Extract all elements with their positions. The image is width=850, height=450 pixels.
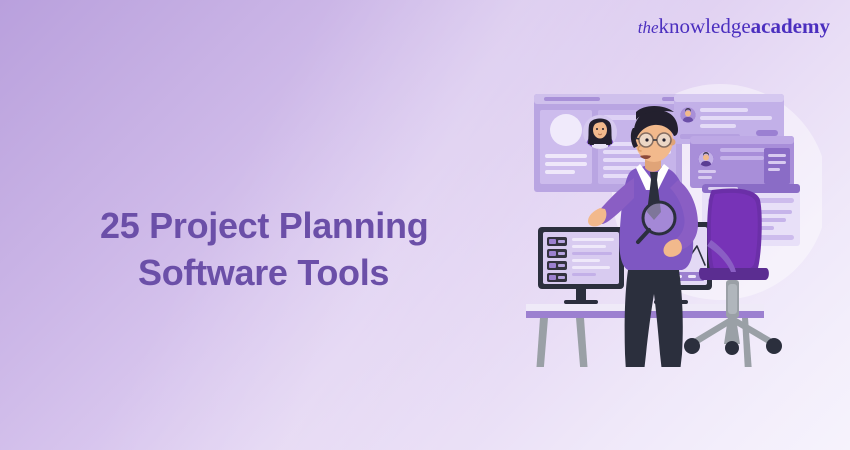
brand-logo[interactable]: theknowledgeacademy (638, 14, 830, 39)
logo-the: the (638, 18, 659, 37)
hero-illustration (512, 72, 822, 367)
monitor-left (538, 227, 624, 304)
logo-academy: academy (751, 14, 830, 38)
chat-panel-2 (690, 136, 794, 188)
title-line-1: 25 Project Planning (100, 202, 428, 249)
page-title: 25 Project Planning Software Tools (100, 202, 428, 296)
promo-banner: theknowledgeacademy 25 Project Planning … (0, 0, 850, 450)
logo-knowledge: knowledge (659, 14, 751, 38)
title-line-2: Software Tools (100, 249, 428, 296)
